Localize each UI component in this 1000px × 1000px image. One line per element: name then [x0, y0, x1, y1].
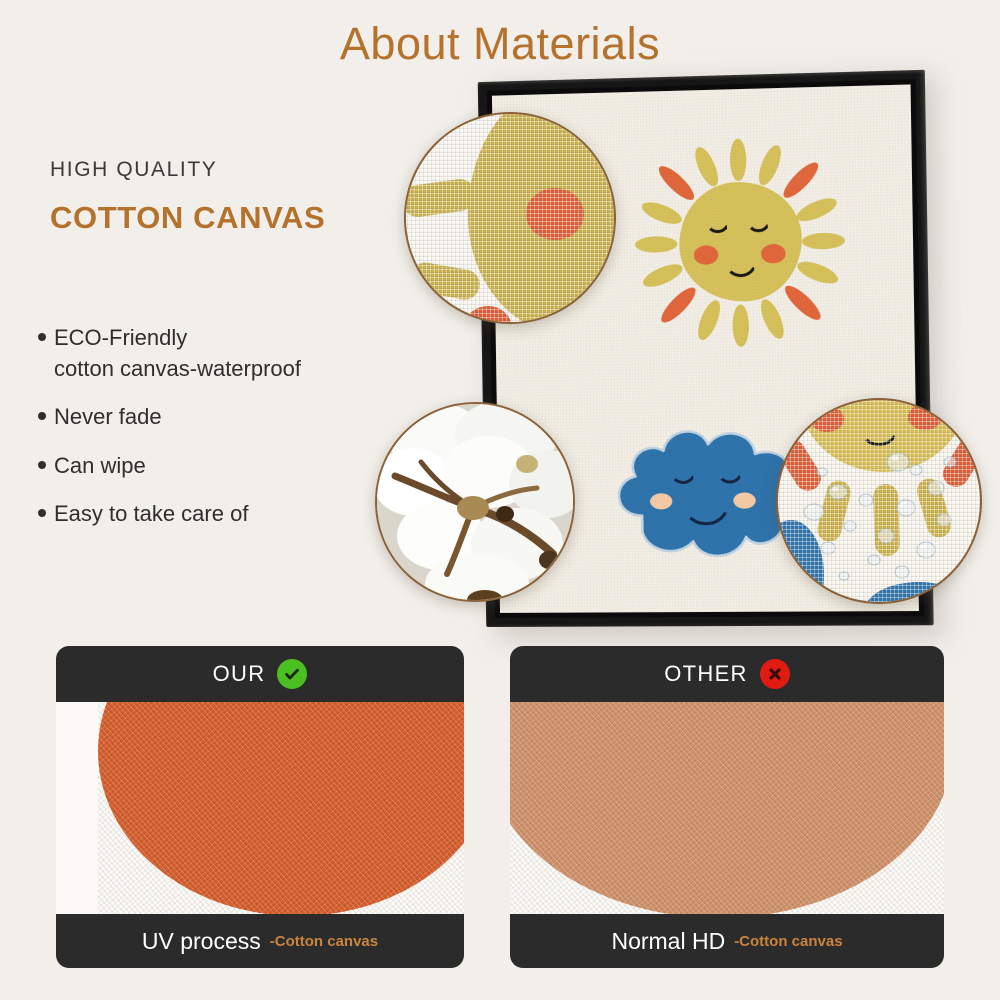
sun-ray-accent: [780, 281, 825, 324]
list-item: ECO-Friendly cotton canvas-waterproof: [38, 322, 418, 384]
zoom-sun-cheek: [464, 306, 512, 324]
bullet-dot-icon: [38, 509, 46, 517]
cotton-boll-zoom: [375, 402, 575, 602]
sun-right-cheek: [761, 244, 786, 264]
feature-bullet-list: ECO-Friendly cotton canvas-waterproof Ne…: [38, 322, 418, 546]
caption-sub: -Cotton canvas: [270, 933, 378, 950]
sun-ray: [639, 198, 685, 228]
cloud-left-cheek: [650, 493, 673, 509]
eyebrow-label: HIGH QUALITY: [50, 158, 400, 182]
bullet-text: Can wipe: [54, 450, 146, 481]
list-item: Never fade: [38, 401, 418, 432]
cross-icon: [760, 659, 790, 689]
zoom-sun-ray: [404, 177, 478, 219]
infographic-root: About Materials HIGH QUALITY COTTON CANV…: [0, 0, 1000, 1000]
caption-main: Normal HD: [611, 928, 725, 955]
canvas-weave-zoom: [404, 112, 616, 324]
sun-ray: [640, 260, 685, 292]
zoom-sun-cheek: [526, 188, 584, 240]
sun-ray: [690, 144, 722, 189]
bullet-dot-icon: [38, 461, 46, 469]
sun-ray: [755, 143, 786, 189]
sun-ray: [635, 236, 678, 253]
comparison-panel-other: OTHER Normal HD -Cotton canvas: [510, 646, 944, 968]
page-title: About Materials: [0, 18, 1000, 70]
panel-header-ours: OUR: [56, 646, 464, 702]
sun-left-cheek: [694, 245, 719, 265]
list-item: Easy to take care of: [38, 498, 418, 529]
comparison-panel-ours: OUR UV process -Cotton canvas: [56, 646, 464, 968]
panel-header-label: OUR: [213, 661, 266, 687]
sun-smile-icon: [724, 261, 757, 278]
sun-ray: [732, 304, 749, 347]
check-icon: [277, 659, 307, 689]
sun-ray: [802, 232, 845, 249]
sun-illustration: [611, 114, 870, 372]
panel-caption-other: Normal HD -Cotton canvas: [510, 914, 944, 968]
sun-ray-accent: [779, 158, 823, 202]
sun-ray: [693, 297, 724, 342]
list-item: Can wipe: [38, 450, 418, 481]
panel-swatch-ours: [56, 702, 464, 914]
caption-main: UV process: [142, 928, 261, 955]
bullet-text: Easy to take care of: [54, 498, 248, 529]
headline-label: COTTON CANVAS: [50, 200, 400, 236]
waterproof-droplets-zoom: [776, 398, 982, 604]
intro-text-block: HIGH QUALITY COTTON CANVAS: [50, 158, 400, 236]
cotton-boll-photo: [377, 404, 575, 602]
sun-ray-accent: [657, 283, 700, 327]
sun-right-eye-icon: [746, 220, 771, 233]
sun-left-eye-icon: [705, 221, 730, 234]
bullet-text: Never fade: [54, 401, 162, 432]
sun-ray: [793, 193, 839, 225]
panel-swatch-other: [510, 702, 944, 914]
sun-ray: [794, 258, 840, 289]
panel-caption-ours: UV process -Cotton canvas: [56, 914, 464, 968]
sun-face: [678, 181, 802, 303]
caption-sub: -Cotton canvas: [734, 933, 842, 950]
panel-header-other: OTHER: [510, 646, 944, 702]
bullet-text: ECO-Friendly cotton canvas-waterproof: [54, 322, 301, 384]
sun-ray: [730, 138, 747, 181]
zoom-sun-ray: [408, 260, 482, 302]
sun-rays-group: [611, 114, 866, 121]
bullet-dot-icon: [38, 412, 46, 420]
sun-ray: [757, 296, 789, 341]
sun-ray-accent: [655, 161, 699, 204]
panel-header-label: OTHER: [664, 661, 748, 687]
bullet-dot-icon: [38, 333, 46, 341]
